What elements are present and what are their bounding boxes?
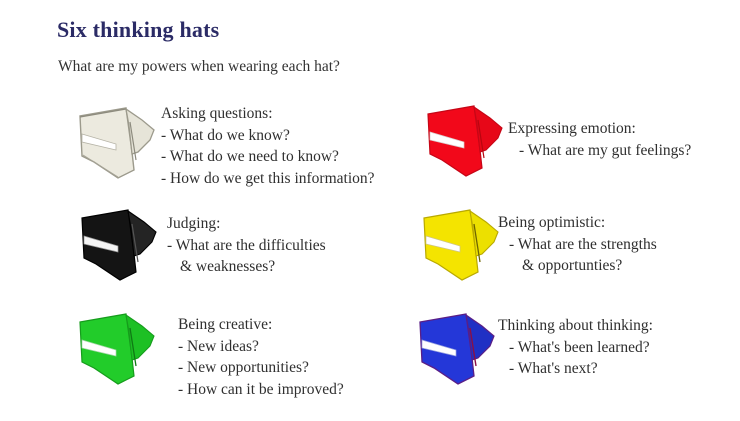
- black-hat-line-2: & weaknesses?: [167, 256, 326, 278]
- white-hat-line-1: - What do we know?: [161, 125, 375, 147]
- black-hat-text: Judging: - What are the difficulties & w…: [167, 213, 326, 278]
- white-hat-line-2: - What do we need to know?: [161, 146, 375, 168]
- red-hat-line-1: - What are my gut feelings?: [508, 140, 691, 162]
- red-hat-icon: [406, 98, 510, 184]
- black-hat-line-1: - What are the difficulties: [167, 235, 326, 257]
- slide-canvas: Six thinking hats What are my powers whe…: [0, 0, 740, 421]
- white-hat-text: Asking questions: - What do we know? - W…: [161, 103, 375, 189]
- green-hat-heading: Being creative:: [178, 314, 344, 336]
- white-hat-icon: [58, 100, 162, 186]
- green-hat-line-3: - How can it be improved?: [178, 379, 344, 401]
- yellow-hat-line-2: & opportunties?: [498, 255, 657, 277]
- green-hat-line-2: - New opportunities?: [178, 357, 344, 379]
- blue-hat-text: Thinking about thinking: - What's been l…: [498, 315, 653, 380]
- yellow-hat-heading: Being optimistic:: [498, 212, 657, 234]
- green-hat-icon: [58, 306, 162, 392]
- red-hat-heading: Expressing emotion:: [508, 118, 691, 140]
- black-hat-heading: Judging:: [167, 213, 326, 235]
- white-hat-heading: Asking questions:: [161, 103, 375, 125]
- green-hat-text: Being creative: - New ideas? - New oppor…: [178, 314, 344, 400]
- page-title: Six thinking hats: [57, 17, 219, 43]
- red-hat-text: Expressing emotion: - What are my gut fe…: [508, 118, 691, 161]
- yellow-hat-icon: [402, 202, 506, 288]
- yellow-hat-line-1: - What are the strengths: [498, 234, 657, 256]
- green-hat-line-1: - New ideas?: [178, 336, 344, 358]
- yellow-hat-text: Being optimistic: - What are the strengt…: [498, 212, 657, 277]
- white-hat-line-3: - How do we get this information?: [161, 168, 375, 190]
- blue-hat-icon: [398, 306, 502, 392]
- blue-hat-line-1: - What's been learned?: [498, 337, 653, 359]
- blue-hat-line-2: - What's next?: [498, 358, 653, 380]
- black-hat-icon: [60, 202, 164, 288]
- blue-hat-heading: Thinking about thinking:: [498, 315, 653, 337]
- page-subtitle: What are my powers when wearing each hat…: [58, 58, 340, 76]
